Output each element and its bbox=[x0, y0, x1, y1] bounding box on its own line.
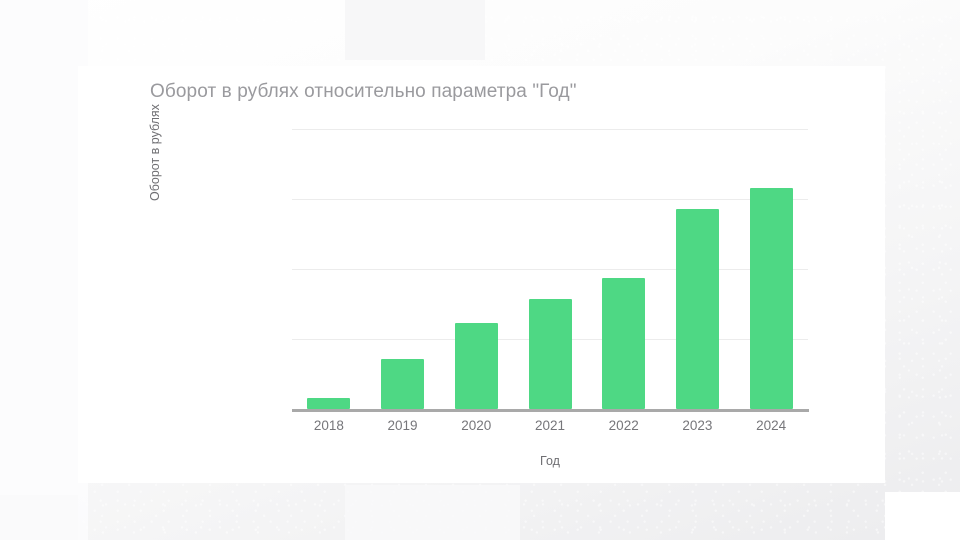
bar-2024[interactable] bbox=[750, 188, 793, 409]
background-panel-left bbox=[0, 0, 88, 540]
x-tick-label-2019: 2019 bbox=[368, 418, 438, 433]
x-tick-label-2020: 2020 bbox=[441, 418, 511, 433]
chart-card: Оборот в рублях относительно параметра "… bbox=[78, 66, 885, 483]
bar-2023[interactable] bbox=[676, 209, 719, 409]
x-axis-line bbox=[292, 409, 809, 412]
bar-series bbox=[292, 127, 808, 409]
x-tick-label-2024: 2024 bbox=[736, 418, 806, 433]
x-axis-tick-labels: 2018201920202021202220232024 bbox=[292, 418, 808, 438]
y-axis-title: Оборот в рублях bbox=[148, 104, 162, 201]
bar-2021[interactable] bbox=[529, 299, 572, 409]
background-panel-top bbox=[345, 0, 485, 60]
x-tick-label-2018: 2018 bbox=[294, 418, 364, 433]
background-panel-bottom-right bbox=[885, 492, 960, 540]
background-panel-bottom bbox=[345, 485, 520, 540]
x-axis-title: Год bbox=[292, 454, 808, 468]
bar-2019[interactable] bbox=[381, 359, 424, 409]
chart-title: Оборот в рублях относительно параметра "… bbox=[150, 81, 577, 103]
x-tick-label-2022: 2022 bbox=[589, 418, 659, 433]
slide-screen: Оборот в рублях относительно параметра "… bbox=[0, 0, 960, 540]
bar-2022[interactable] bbox=[602, 278, 645, 409]
background-panel-bottom-left bbox=[0, 495, 78, 540]
bar-2020[interactable] bbox=[455, 323, 498, 409]
bar-2018[interactable] bbox=[307, 398, 350, 409]
x-tick-label-2021: 2021 bbox=[515, 418, 585, 433]
x-tick-label-2023: 2023 bbox=[662, 418, 732, 433]
